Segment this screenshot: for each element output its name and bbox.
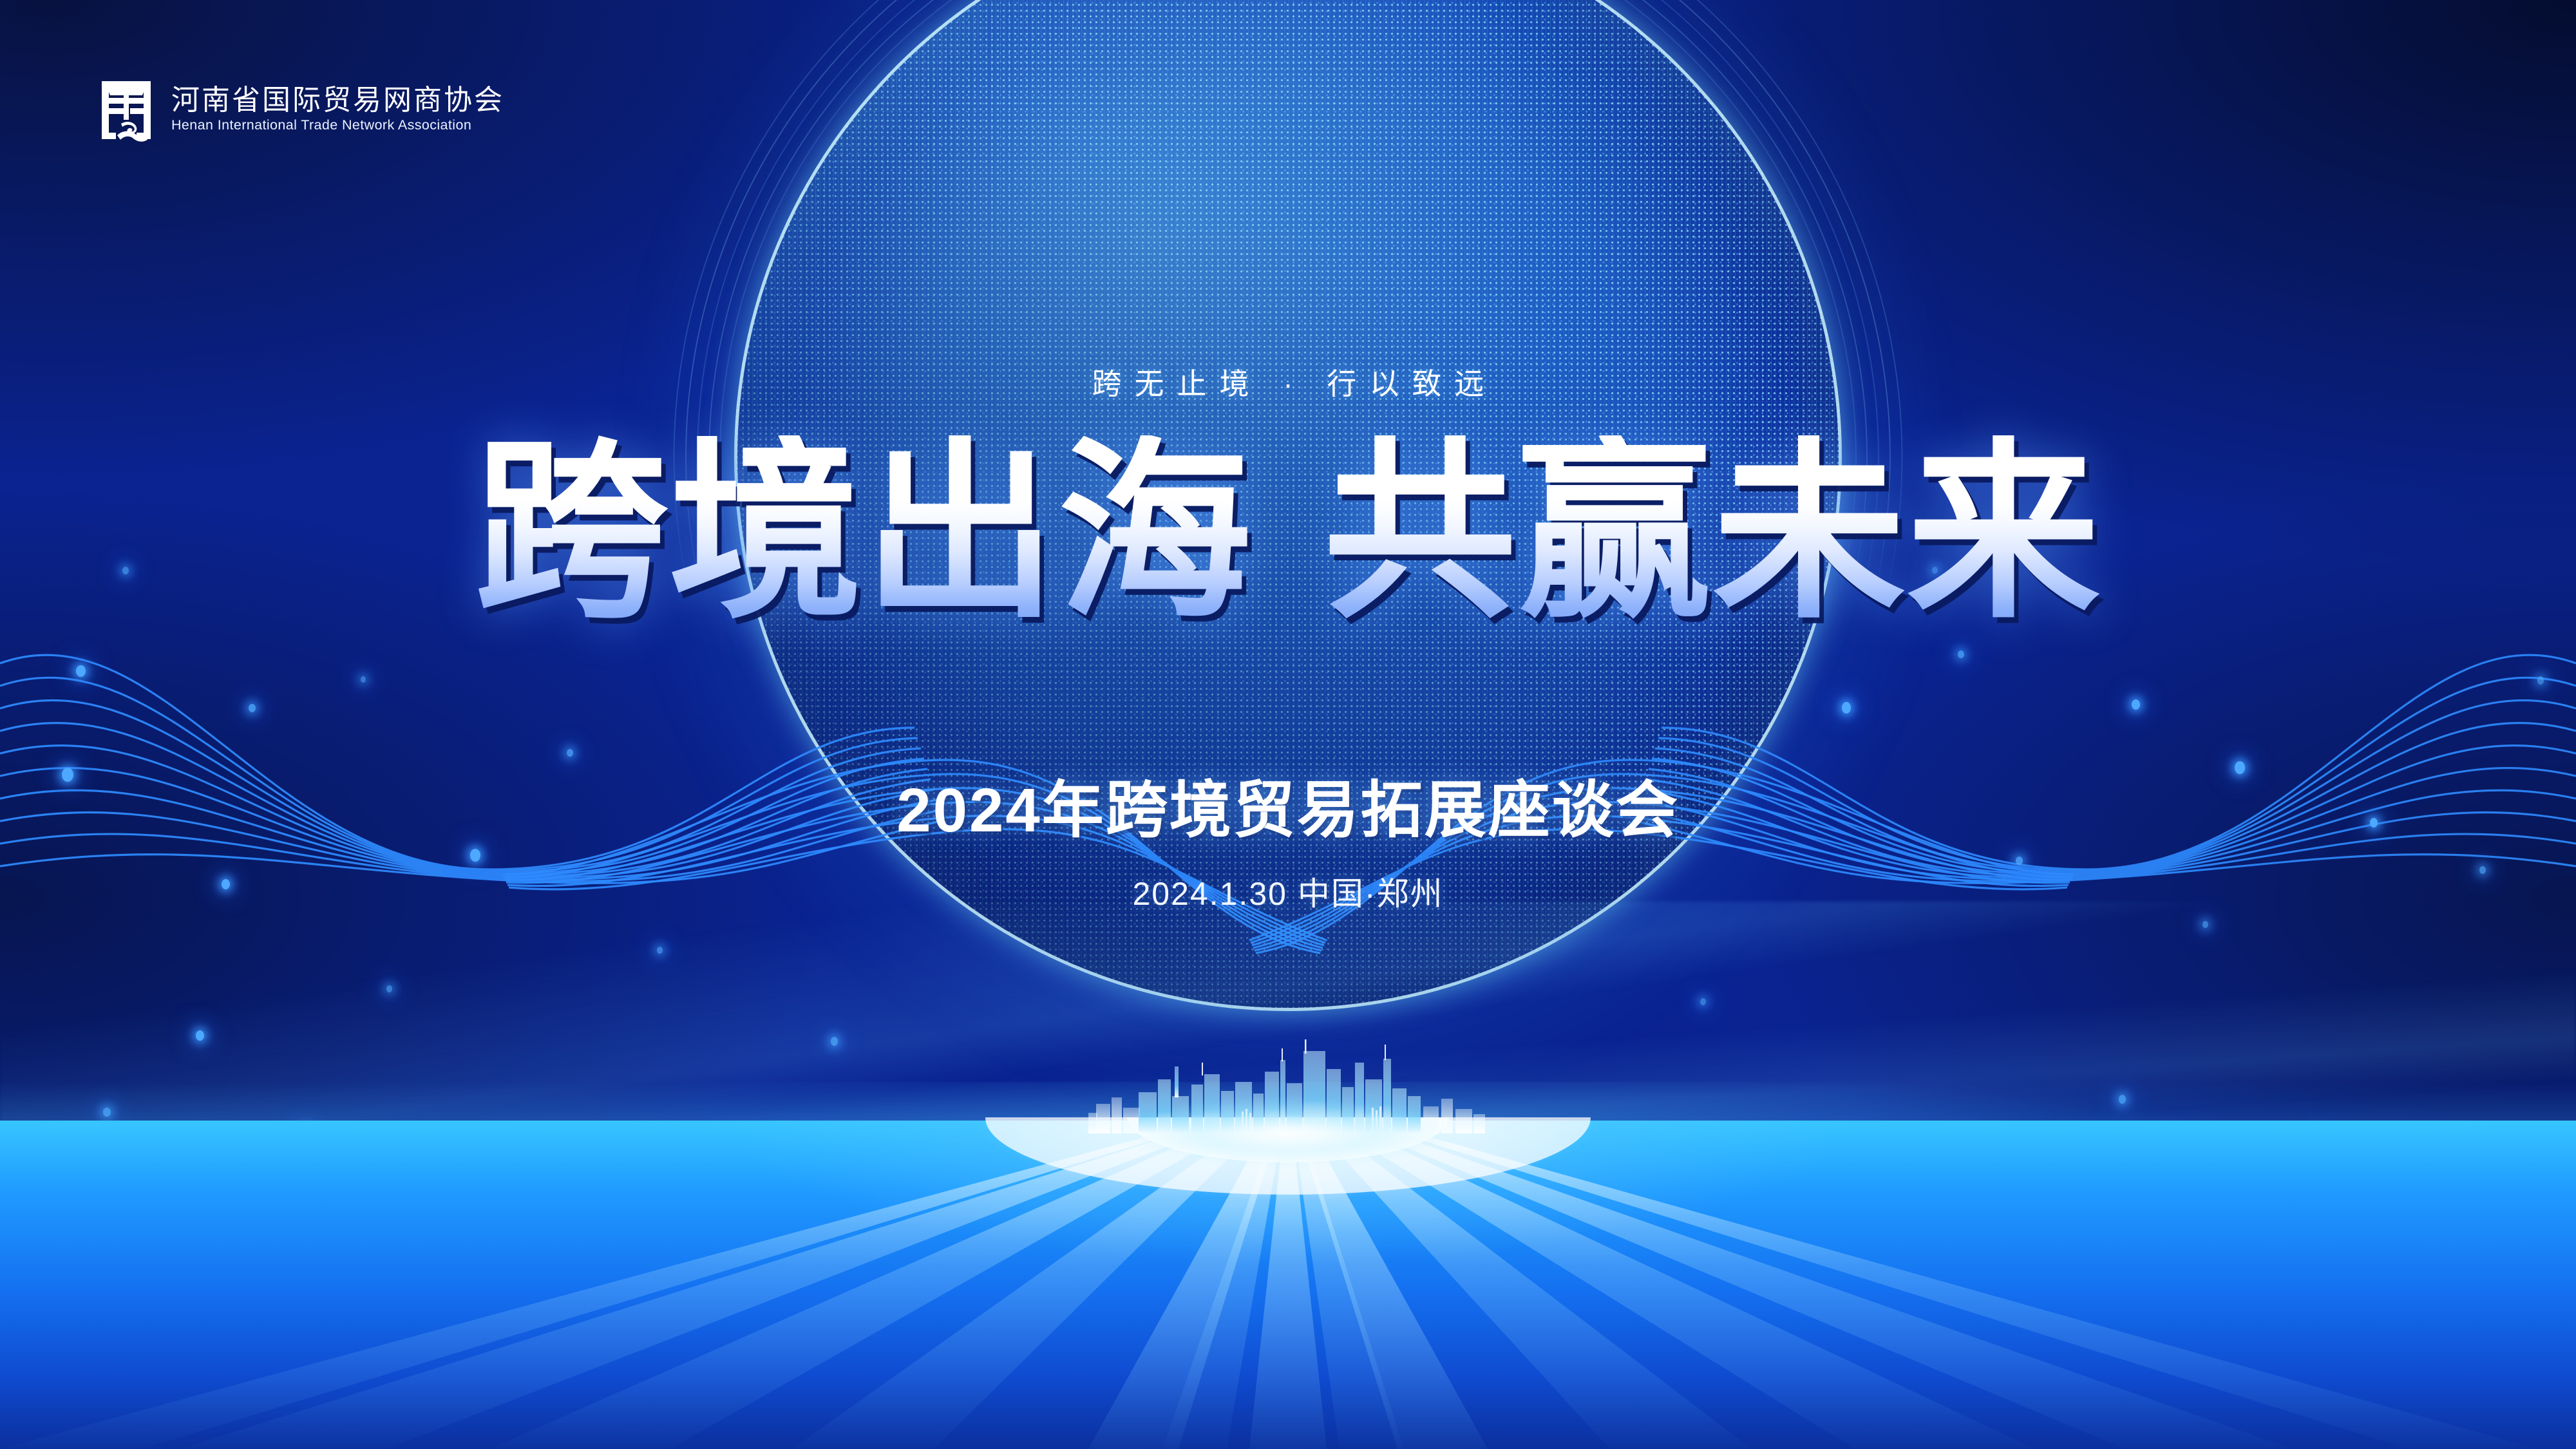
logo-name-en: Henan International Trade Network Associ…: [171, 118, 504, 133]
event-date-location: 2024.1.30 中国·郑州: [0, 868, 2576, 914]
headline-part-1: 跨境出海: [475, 435, 1253, 629]
association-logo[interactable]: 河南省国际贸易网商协会 Henan International Trade Ne…: [98, 76, 504, 143]
event-poster: 河南省国际贸易网商协会 Henan International Trade Ne…: [0, 0, 2576, 1449]
headline-part-2: 共赢未来: [1323, 435, 2101, 629]
poster-content: 河南省国际贸易网商协会 Henan International Trade Ne…: [0, 0, 2576, 1449]
seal-script-emblem-icon: [98, 76, 155, 143]
logo-name-cn: 河南省国际贸易网商协会: [171, 86, 504, 115]
event-headline: 跨境出海共赢未来: [0, 435, 2576, 629]
event-tagline: 跨无止境 · 行以致远: [0, 361, 2576, 403]
event-subtitle: 2024年跨境贸易拓展座谈会: [0, 760, 2576, 849]
